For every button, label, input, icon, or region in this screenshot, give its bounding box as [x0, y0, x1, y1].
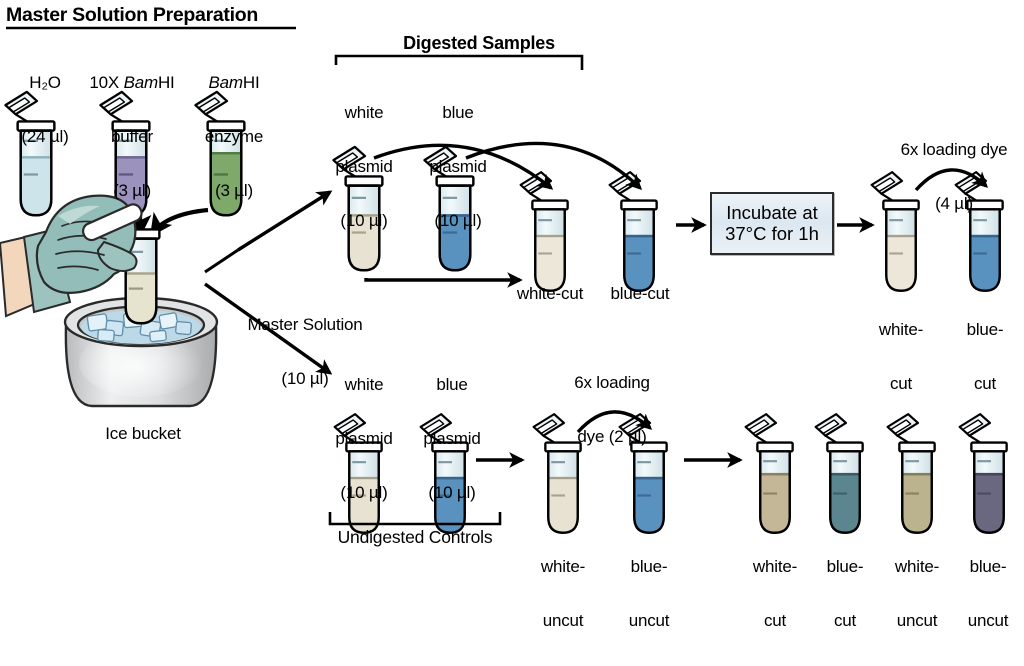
bp-l1: blue — [412, 104, 504, 122]
fwc-l1: white- — [736, 558, 814, 576]
wp-l2: plasmid — [318, 158, 410, 176]
bp-l3: (10 µl) — [412, 212, 504, 230]
label-buffer-line2: buffer — [84, 128, 180, 146]
label-white-uncut: white- uncut — [521, 522, 605, 666]
label-master-solution-line1: Master Solution — [225, 316, 385, 334]
label-enzyme-line2: enzyme — [188, 128, 280, 146]
bpu-l2: plasmid — [406, 430, 498, 448]
label-bamhi-enzyme: BamHI enzyme (3 µl) — [188, 38, 280, 236]
bcd-l2: cut — [949, 375, 1021, 393]
label-white-plasmid-uncut: white plasmid (10 µl) — [318, 340, 410, 538]
wp-l3: (10 µl) — [318, 212, 410, 230]
label-white-cut: white-cut — [500, 285, 600, 303]
bp-l2: plasmid — [412, 158, 504, 176]
fwu-l1: white- — [876, 558, 958, 576]
arrow-mastersolution-into-cuts — [366, 278, 520, 280]
dye2-l2: dye (2 µl) — [548, 428, 676, 446]
dye4-l1: 6x loading dye — [884, 141, 1024, 159]
fbu-l2: uncut — [952, 612, 1024, 630]
fwc-l2: cut — [736, 612, 814, 630]
tube-blue-cut — [610, 172, 657, 294]
label-final-blue-uncut: blue- uncut — [952, 522, 1024, 666]
bu-l1: blue- — [610, 558, 688, 576]
wp-l1: white — [318, 104, 410, 122]
label-h2o: H₂O (24 µl) — [0, 38, 90, 182]
wpu-l3: (10 µl) — [318, 484, 410, 502]
fbc-l1: blue- — [810, 558, 880, 576]
label-blue-uncut: blue- uncut — [610, 522, 688, 666]
label-blue-plasmid-digest: blue plasmid (10 µl) — [412, 68, 504, 266]
label-loading-dye-4ul: 6x loading dye (4 µl) — [884, 105, 1024, 249]
label-final-blue-cut: blue- cut — [810, 522, 880, 666]
label-ice-bucket: Ice bucket — [78, 425, 208, 443]
label-final-white-uncut: white- uncut — [876, 522, 958, 666]
bpu-l1: blue — [406, 376, 498, 394]
label-h2o-line1: H₂O — [0, 74, 90, 92]
label-enzyme-line1: BamHI — [188, 74, 280, 92]
bcd-l1: blue- — [949, 321, 1021, 339]
protocol-diagram: Master Solution Preparation H₂O (24 µl) … — [0, 0, 1024, 559]
wu-l1: white- — [521, 558, 605, 576]
bpu-l3: (10 µl) — [406, 484, 498, 502]
label-white-plasmid-digest: white plasmid (10 µl) — [318, 68, 410, 266]
heading-digested-samples: Digested Samples — [374, 33, 584, 54]
bu-l2: uncut — [610, 612, 688, 630]
label-blue-plasmid-uncut: blue plasmid (10 µl) — [406, 340, 498, 538]
label-bamhi-buffer: 10X BamHI buffer (3 µl) — [84, 38, 180, 236]
label-enzyme-line3: (3 µl) — [188, 182, 280, 200]
tube-final-blue-uncut — [960, 414, 1007, 536]
wpu-l2: plasmid — [318, 430, 410, 448]
label-loading-dye-2ul: 6x loading dye (2 µl) — [548, 338, 676, 482]
incubate-step-box: Incubate at 37°C for 1h — [710, 192, 834, 255]
label-buffer-line1: 10X BamHI — [84, 74, 180, 92]
tube-final-white-uncut — [888, 414, 935, 536]
wcd-l2: cut — [862, 375, 940, 393]
label-buffer-line3: (3 µl) — [84, 182, 180, 200]
wpu-l1: white — [318, 376, 410, 394]
dye4-l2: (4 µl) — [884, 195, 1024, 213]
fbc-l2: cut — [810, 612, 880, 630]
tube-white-cut — [521, 172, 568, 294]
label-blue-cut: blue-cut — [597, 285, 683, 303]
label-white-cut-dyed: white- cut — [862, 285, 940, 429]
wu-l2: uncut — [521, 612, 605, 630]
page-title: Master Solution Preparation — [6, 4, 258, 27]
label-final-white-cut: white- cut — [736, 522, 814, 666]
tube-final-white-cut — [746, 414, 793, 536]
fbu-l1: blue- — [952, 558, 1024, 576]
dye2-l1: 6x loading — [548, 374, 676, 392]
wcd-l1: white- — [862, 321, 940, 339]
label-undigested-controls: Undigested Controls — [319, 528, 511, 547]
label-h2o-line2: (24 µl) — [0, 128, 90, 146]
tube-final-blue-cut — [816, 414, 863, 536]
fwu-l2: uncut — [876, 612, 958, 630]
leader-master-solution — [205, 250, 238, 272]
label-blue-cut-dyed: blue- cut — [949, 285, 1021, 429]
